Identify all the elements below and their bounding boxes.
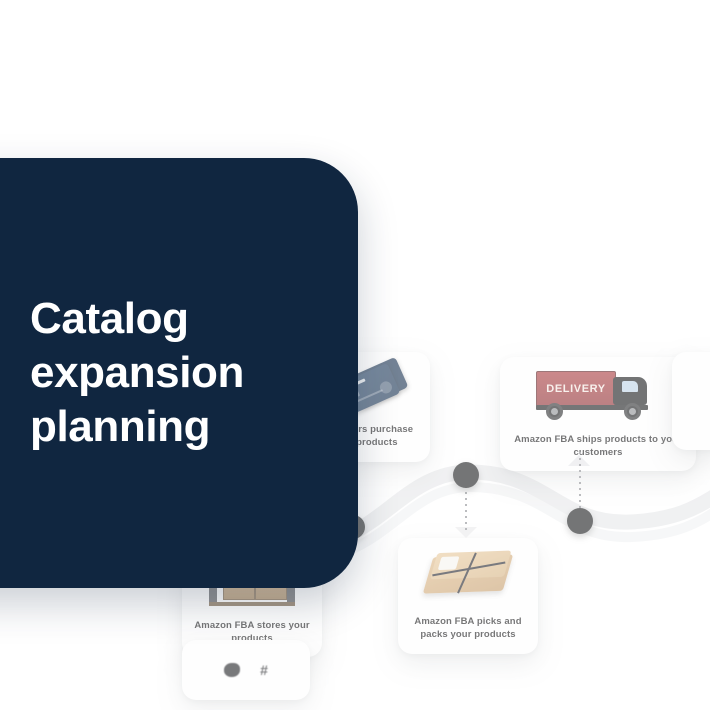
page-title: Catalogexpansionplanning [30, 292, 244, 454]
flow-node-2[interactable] [567, 508, 593, 534]
flow-card-partial-right[interactable] [672, 352, 710, 450]
delivery-truck-icon: DELIVERY [536, 369, 660, 421]
flow-card-ships-caption: Amazon FBA ships products to your custom… [508, 434, 688, 465]
flow-card-picks-packs-caption: Amazon FBA picks and packs your products [404, 616, 532, 648]
title-panel: Catalogexpansionplanning [0, 158, 358, 588]
misc-glyph-icon: # [224, 640, 268, 700]
page-title-line-3: planning [30, 402, 210, 451]
flow-card-picks-packs[interactable]: Amazon FBA picks and packs your products [398, 538, 538, 654]
parcel-box-icon [421, 548, 515, 599]
truck-label: DELIVERY [546, 383, 605, 395]
flow-card-misc[interactable]: # [182, 640, 310, 700]
page-title-line-2: expansion [30, 348, 244, 397]
dotted-connector-ships [579, 452, 581, 510]
slide-canvas: Customers purchase your products DELIVER… [0, 0, 710, 710]
dotted-connector-packs [465, 486, 467, 530]
flow-card-ships[interactable]: DELIVERY Amazon FBA ships products to yo… [500, 357, 696, 471]
flow-node-1[interactable] [453, 462, 479, 488]
page-title-line-1: Catalog [30, 294, 189, 343]
